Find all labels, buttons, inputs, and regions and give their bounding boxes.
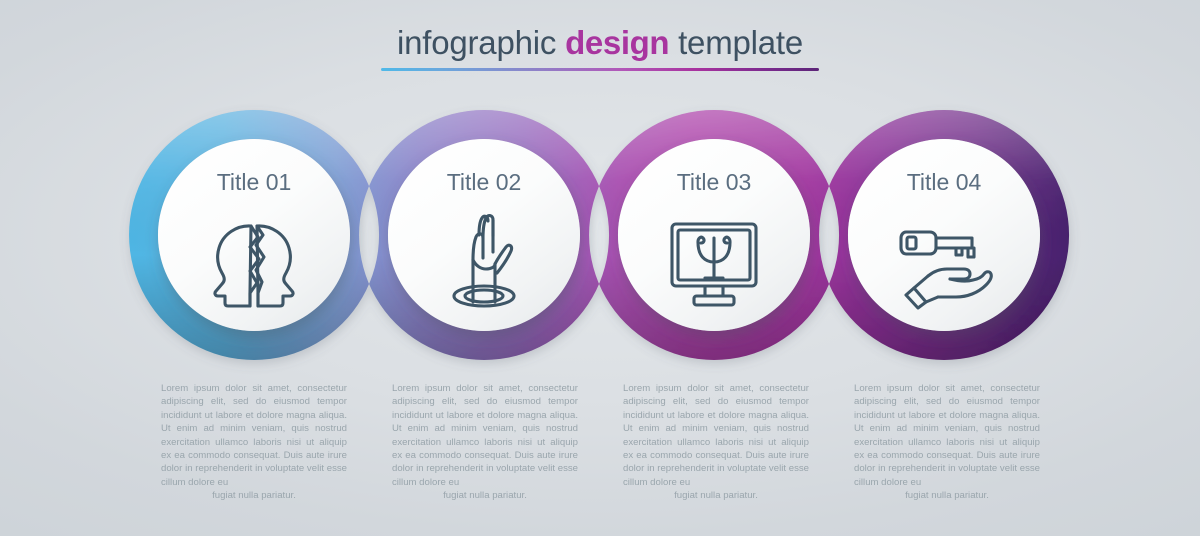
step-description-2-last: fugiat nulla pariatur. (392, 489, 578, 502)
step-description-4-last: fugiat nulla pariatur. (854, 489, 1040, 502)
step-description-4-body: Lorem ipsum dolor sit amet, consectetur … (854, 383, 1040, 488)
step-description-2-body: Lorem ipsum dolor sit amet, consectetur … (392, 383, 578, 488)
step-description-3-last: fugiat nulla pariatur. (623, 489, 809, 502)
step-title-2: Title 02 (447, 169, 522, 195)
step-disc-4[interactable] (848, 139, 1040, 331)
step-description-3-body: Lorem ipsum dolor sit amet, consectetur … (623, 383, 809, 488)
step-description-1: Lorem ipsum dolor sit amet, consectetur … (161, 382, 347, 503)
step-disc-3[interactable] (618, 139, 810, 331)
step-description-3: Lorem ipsum dolor sit amet, consectetur … (623, 382, 809, 503)
step-description-1-body: Lorem ipsum dolor sit amet, consectetur … (161, 383, 347, 488)
step-description-1-last: fugiat nulla pariatur. (161, 489, 347, 502)
step-title-4: Title 04 (907, 169, 982, 195)
step-title-3: Title 03 (677, 169, 752, 195)
step-description-4: Lorem ipsum dolor sit amet, consectetur … (854, 382, 1040, 503)
step-disc-1[interactable] (158, 139, 350, 331)
step-description-2: Lorem ipsum dolor sit amet, consectetur … (392, 382, 578, 503)
step-disc-group (158, 139, 1040, 331)
infographic-canvas: infographic design template (0, 0, 1200, 536)
step-title-1: Title 01 (217, 169, 292, 195)
